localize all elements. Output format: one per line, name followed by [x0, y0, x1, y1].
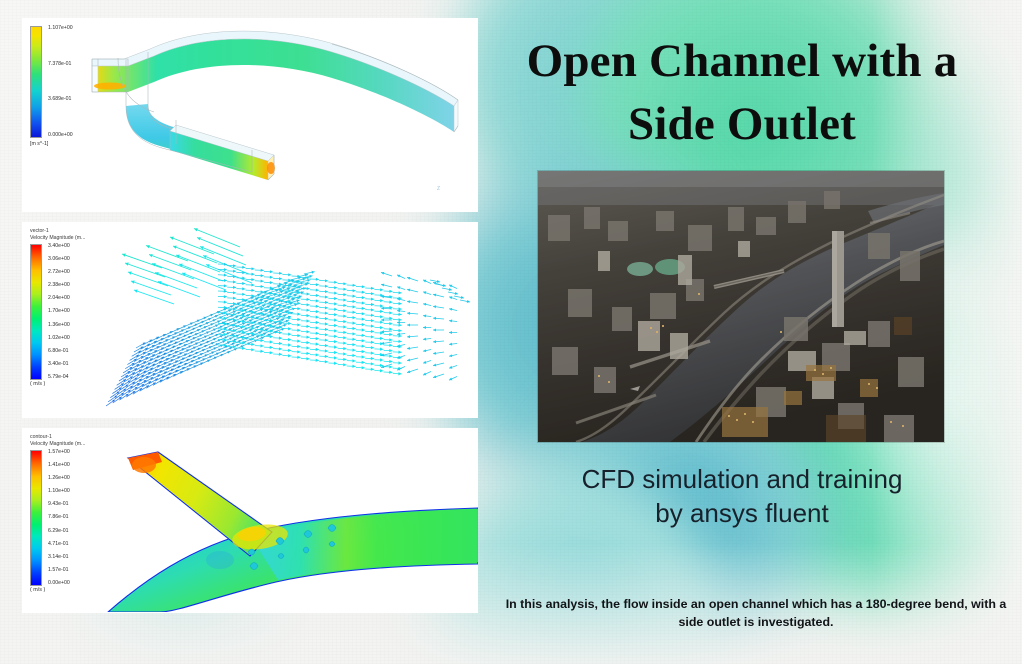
panel2-tick: 1.70e+00: [48, 309, 70, 314]
velocity-arrow: [365, 368, 374, 371]
velocity-arrow: [246, 289, 255, 292]
velocity-arrow: [282, 327, 291, 330]
velocity-arrow: [319, 301, 328, 304]
velocity-arrow: [393, 313, 402, 316]
velocity-arrow: [273, 272, 282, 275]
velocity-arrow: [449, 377, 457, 381]
velocity-arrow: [292, 329, 301, 332]
velocity-arrow: [449, 285, 457, 289]
velocity-arrow: [374, 304, 383, 307]
velocity-arrow: [397, 321, 405, 324]
panel2-colorbar-legend: vector-1 Velocity Magnitude (m... 3.40e+…: [30, 228, 85, 387]
velocity-arrow: [264, 288, 275, 292]
velocity-arrow: [246, 283, 255, 286]
velocity-arrow: [255, 269, 264, 272]
aerial-city-content: [538, 171, 944, 442]
velocity-arrow: [227, 297, 236, 300]
velocity-arrow: [310, 289, 319, 292]
velocity-arrow: [301, 341, 310, 344]
panel2-legend-unit: ( m/s ): [30, 381, 85, 387]
velocity-arrow: [449, 331, 457, 334]
velocity-arrow: [310, 315, 319, 318]
velocity-arrow: [347, 332, 356, 335]
velocity-arrow: [128, 272, 168, 287]
velocity-arrow: [301, 357, 310, 360]
velocity-arrow: [273, 336, 282, 339]
velocity-arrow: [356, 296, 365, 299]
velocity-arrow: [170, 237, 214, 254]
velocity-arrow: [449, 354, 457, 357]
panel1-tick: 1.107e+00: [48, 26, 73, 31]
subtitle: CFD simulation and training by ansys flu…: [492, 463, 992, 531]
panel1-tick: 7.378e-01: [48, 62, 73, 67]
velocity-arrow: [301, 319, 310, 322]
velocity-arrow: [347, 327, 356, 330]
velocity-arrow: [328, 356, 337, 359]
velocity-arrow: [393, 351, 402, 354]
velocity-arrow: [310, 353, 319, 356]
velocity-arrow: [407, 358, 418, 361]
velocity-arrow: [347, 295, 356, 298]
panel2-tick: 3.40e-01: [48, 362, 70, 367]
velocity-arrow: [347, 354, 356, 357]
panel1-colorbar: [30, 26, 42, 138]
velocity-arrow: [310, 359, 319, 362]
velocity-arrow: [393, 307, 402, 310]
velocity-arrow: [310, 299, 319, 302]
velocity-arrow: [365, 287, 374, 290]
velocity-arrow: [319, 322, 328, 325]
velocity-arrow: [356, 366, 365, 369]
velocity-arrow: [158, 281, 200, 297]
panel2-colorbar-ticks: 3.40e+00 3.06e+00 2.72e+00 2.38e+00 2.04…: [48, 244, 70, 380]
velocity-arrow: [356, 355, 365, 358]
velocity-arrow: [310, 283, 319, 286]
velocity-arrow: [423, 361, 431, 364]
velocity-arrow: [155, 272, 197, 288]
velocity-arrow: [338, 304, 347, 307]
velocity-arrow: [328, 345, 337, 348]
velocity-arrow: [282, 338, 291, 341]
velocity-arrow: [328, 313, 337, 316]
velocity-arrow: [218, 284, 227, 287]
velocity-arrow: [301, 352, 310, 355]
velocity-arrow: [365, 351, 374, 354]
velocity-arrow: [227, 275, 236, 278]
velocity-arrow: [310, 337, 319, 340]
velocity-arrow: [347, 343, 356, 346]
velocity-arrow: [365, 314, 374, 317]
velocity-arrow: [407, 277, 418, 281]
contour-low-velocity-pocket: [206, 551, 234, 569]
panel2-tick: 5.79e-04: [48, 375, 70, 380]
velocity-arrow: [273, 277, 282, 280]
velocity-contour-svg: [100, 434, 478, 612]
velocity-arrow: [227, 270, 236, 273]
velocity-arrow: [423, 291, 431, 294]
panel1-tick: 3.689e-01: [48, 97, 73, 102]
panel1-colorbar-legend: 1.107e+00 7.378e-01 3.689e-01 0.000e+00 …: [30, 24, 73, 147]
panel2-tick: 3.40e+00: [48, 244, 70, 249]
velocity-arrow: [433, 374, 444, 378]
panel2-tick: 2.04e+00: [48, 296, 70, 301]
velocity-arrow: [407, 300, 418, 303]
velocity-arrow: [319, 333, 328, 336]
velocity-arrow: [433, 317, 444, 320]
velocity-arrow: [227, 291, 236, 294]
velocity-vector-svg: [100, 228, 478, 412]
channel-inlet-face: [92, 66, 98, 92]
panel1-colorbar-ticks: 1.107e+00 7.378e-01 3.689e-01 0.000e+00: [48, 26, 73, 138]
velocity-arrow: [393, 302, 402, 305]
velocity-arrow: [365, 341, 374, 344]
velocity-arrow: [236, 287, 245, 290]
velocity-arrow: [365, 292, 374, 295]
velocity-arrow: [347, 316, 356, 319]
panel3-colorbar-ticks: 1.57e+00 1.41e+00 1.26e+00 1.10e+00 9.43…: [48, 450, 70, 586]
velocity-arrow: [273, 347, 282, 350]
velocity-arrow: [347, 300, 356, 303]
velocity-arrow: [264, 270, 273, 273]
panel3-tick: 7.86e-01: [48, 515, 70, 520]
velocity-arrow: [423, 349, 431, 352]
velocity-arrow: [338, 325, 347, 328]
panel1-plot-area: Z: [82, 28, 474, 198]
velocity-arrow: [407, 369, 418, 373]
velocity-arrow: [255, 350, 264, 353]
velocity-arrow: [449, 343, 457, 346]
panel2-tick: 2.72e+00: [48, 270, 70, 275]
velocity-arrow: [310, 332, 319, 335]
velocity-arrow: [365, 335, 374, 338]
velocity-arrow: [338, 336, 347, 339]
velocity-arrow: [356, 307, 365, 310]
contour-side-outlet-peak: [132, 457, 156, 473]
velocity-arrow: [301, 314, 310, 317]
velocity-arrow: [319, 339, 328, 342]
velocity-arrow: [291, 277, 302, 280]
velocity-arrow: [227, 286, 236, 289]
velocity-arrow: [374, 348, 383, 351]
panel2-tick: 1.02e+00: [48, 336, 70, 341]
velocity-arrow: [338, 298, 347, 301]
velocity-arrow: [374, 337, 383, 340]
velocity-arrow: [310, 294, 319, 297]
velocity-arrow: [356, 291, 365, 294]
velocity-arrow: [397, 286, 405, 289]
velocity-arrow: [356, 345, 365, 348]
velocity-arrow: [423, 372, 431, 376]
velocity-arrow: [347, 311, 356, 314]
velocity-arrow: [393, 329, 402, 332]
caption-line-1: In this analysis, the flow inside an ope…: [506, 597, 968, 611]
velocity-arrow: [365, 362, 374, 365]
velocity-arrow: [310, 348, 319, 351]
velocity-arrow: [423, 314, 431, 317]
panel3-tick: 9.43e-01: [48, 502, 70, 507]
velocity-arrow: [319, 344, 328, 347]
velocity-arrow: [374, 326, 383, 329]
velocity-arrow: [319, 279, 328, 282]
velocity-arrow: [310, 278, 319, 281]
velocity-arrow: [301, 309, 310, 312]
velocity-arrow: [365, 319, 374, 322]
velocity-arrow: [384, 360, 393, 363]
velocity-arrow: [393, 291, 402, 294]
velocity-arrow: [433, 329, 444, 332]
panel3-tick: 1.10e+00: [48, 489, 70, 494]
panel3-tick: 0.00e+00: [48, 581, 70, 586]
velocity-arrow: [384, 327, 393, 330]
velocity-arrow: [338, 347, 347, 350]
velocity-arrow: [319, 312, 328, 315]
panel2-plot-area: [100, 228, 478, 412]
panel3-legend-title-2: Velocity Magnitude (m...: [30, 441, 85, 448]
velocity-arrow: [236, 293, 245, 296]
panel3-tick: 1.57e-01: [48, 568, 70, 573]
velocity-arrow: [319, 290, 328, 293]
velocity-arrow: [433, 294, 444, 297]
velocity-arrow: [454, 296, 464, 299]
velocity-arrow: [381, 272, 392, 276]
velocity-arrow: [218, 295, 227, 298]
velocity-arrow: [393, 318, 402, 321]
velocity-arrow: [125, 263, 165, 278]
velocity-arrow: [264, 351, 273, 354]
velocity-arrow: [197, 237, 243, 256]
velocity-arrow: [338, 363, 347, 366]
velocity-arrow: [246, 348, 255, 351]
title-line-1: Open Channel with a: [492, 30, 992, 93]
photo-grade: [538, 171, 944, 442]
cfd-panel-3d-geometry: 1.107e+00 7.378e-01 3.689e-01 0.000e+00 …: [22, 18, 478, 212]
velocity-arrow: [310, 321, 319, 324]
panel3-tick: 1.26e+00: [48, 476, 70, 481]
velocity-arrow: [397, 275, 405, 279]
velocity-arrow: [449, 308, 457, 311]
panel3-legend-unit: ( m/s ): [30, 587, 85, 593]
velocity-arrow: [328, 308, 337, 311]
velocity-arrow: [356, 301, 365, 304]
velocity-arrow: [384, 349, 393, 352]
velocity-arrow: [338, 315, 347, 318]
velocity-arrow: [255, 285, 264, 288]
velocity-arrow: [356, 350, 365, 353]
velocity-arrow: [328, 351, 337, 354]
velocity-arrow: [423, 303, 431, 306]
velocity-arrow: [356, 361, 365, 364]
panel2-tick: 2.38e+00: [48, 283, 70, 288]
velocity-arrow: [236, 266, 245, 269]
velocity-arrow: [397, 309, 405, 312]
subtitle-line-2: by ansys fluent: [492, 497, 992, 531]
velocity-arrow: [319, 328, 328, 331]
velocity-arrow: [407, 289, 418, 292]
velocity-arrow: [264, 346, 273, 349]
velocity-arrow: [273, 342, 282, 345]
velocity-arrow: [397, 356, 405, 359]
velocity-arrow: [356, 328, 365, 331]
velocity-arrow: [301, 325, 310, 328]
velocity-arrow: [194, 228, 240, 247]
title-line-2: Side Outlet: [492, 93, 992, 156]
velocity-arrow: [433, 363, 444, 366]
velocity-arrow: [338, 320, 347, 323]
velocity-arrow: [374, 288, 383, 291]
velocity-arrow: [310, 326, 319, 329]
velocity-arrow: [338, 282, 347, 285]
velocity-arrow: [292, 339, 301, 342]
panel1-legend-unit: [m s^-1]: [30, 141, 73, 147]
velocity-arrow: [255, 339, 264, 342]
velocity-arrow: [347, 289, 356, 292]
velocity-arrow: [319, 360, 328, 363]
velocity-arrow: [356, 312, 365, 315]
velocity-arrow: [152, 263, 194, 279]
velocity-arrow: [347, 338, 356, 341]
velocity-arrow: [328, 302, 337, 305]
velocity-arrow: [292, 312, 301, 315]
velocity-arrow: [292, 356, 301, 359]
velocity-arrow: [384, 290, 393, 293]
velocity-arrow: [328, 292, 337, 295]
velocity-arrow: [393, 361, 402, 364]
velocity-arrow: [282, 349, 291, 352]
velocity-arrow: [384, 344, 393, 347]
velocity-arrow: [319, 295, 328, 298]
velocity-arrow: [338, 358, 347, 361]
velocity-arrow: [149, 254, 191, 270]
velocity-arrow: [433, 352, 444, 355]
velocity-arrow: [134, 290, 174, 305]
velocity-arrow: [146, 245, 188, 261]
velocity-arrow: [131, 281, 171, 296]
inlet-hotspot: [94, 83, 126, 90]
velocity-arrow: [255, 344, 264, 347]
velocity-arrow: [384, 311, 393, 314]
panel1-axis-marker: Z: [437, 186, 440, 192]
velocity-arrow: [338, 293, 347, 296]
velocity-arrow: [384, 317, 393, 320]
velocity-arrow: [273, 353, 282, 356]
panel3-tick: 6.29e-01: [48, 529, 70, 534]
velocity-arrow: [347, 305, 356, 308]
velocity-arrow: [292, 323, 301, 326]
velocity-arrow: [356, 318, 365, 321]
velocity-arrow: [423, 280, 431, 284]
velocity-arrow: [393, 372, 402, 375]
velocity-arrow: [460, 300, 470, 303]
velocity-arrow: [255, 280, 264, 283]
velocity-arrow: [423, 338, 431, 341]
panel2-tick: 3.06e+00: [48, 257, 70, 262]
velocity-arrow: [374, 321, 383, 324]
velocity-arrow: [319, 285, 328, 288]
velocity-arrow: [356, 334, 365, 337]
velocity-arrow: [328, 297, 337, 300]
velocity-arrow: [365, 357, 374, 360]
panel2-colorbar: [30, 244, 42, 380]
velocity-arrow: [292, 318, 301, 321]
velocity-arrow: [347, 359, 356, 362]
velocity-arrow: [407, 324, 418, 327]
velocity-arrow: [282, 273, 291, 276]
velocity-arrow: [338, 352, 347, 355]
velocity-arrow: [218, 274, 227, 277]
velocity-arrow: [328, 340, 337, 343]
velocity-arrow: [292, 345, 301, 348]
velocity-arrow: [328, 286, 337, 289]
velocity-arrow: [236, 282, 245, 285]
panel3-tick: 1.57e+00: [48, 450, 70, 455]
velocity-arrow: [384, 338, 393, 341]
panel3-tick: 4.71e-01: [48, 542, 70, 547]
velocity-arrow: [423, 326, 431, 329]
velocity-arrow: [338, 309, 347, 312]
velocity-arrow: [328, 281, 337, 284]
panel3-tick: 1.41e+00: [48, 463, 70, 468]
velocity-arrow: [365, 346, 374, 349]
velocity-arrow: [264, 340, 273, 343]
velocity-arrow: [374, 358, 383, 361]
velocity-arrow: [365, 324, 374, 327]
velocity-arrow: [328, 362, 337, 365]
poster-canvas: 1.107e+00 7.378e-01 3.689e-01 0.000e+00 …: [0, 0, 1022, 664]
velocity-arrow: [218, 301, 227, 304]
velocity-arrow: [365, 330, 374, 333]
velocity-arrow: [433, 305, 444, 308]
velocity-arrow: [200, 246, 246, 265]
panel2-tick: 1.36e+00: [48, 323, 70, 328]
velocity-arrow: [328, 318, 337, 321]
velocity-arrow: [310, 310, 319, 313]
aerial-city-svg: [538, 171, 944, 442]
velocity-arrow: [374, 364, 383, 367]
velocity-arrow: [381, 284, 392, 287]
velocity-arrow: [122, 254, 162, 269]
velocity-arrow: [292, 334, 301, 337]
page-title: Open Channel with a Side Outlet: [492, 30, 992, 155]
subtitle-line-1: CFD simulation and training: [492, 463, 992, 497]
velocity-arrow: [347, 348, 356, 351]
velocity-arrow: [301, 298, 310, 301]
velocity-arrow: [304, 271, 315, 274]
cfd-panel-vector-plot: vector-1 Velocity Magnitude (m... 3.40e+…: [22, 222, 478, 418]
velocity-arrow: [264, 281, 273, 284]
panel3-colorbar: [30, 450, 42, 586]
velocity-arrow: [255, 274, 264, 277]
velocity-arrow: [319, 349, 328, 352]
panel2-legend-title-2: Velocity Magnitude (m...: [30, 235, 85, 242]
velocity-arrow: [246, 267, 255, 270]
velocity-arrow: [292, 350, 301, 353]
panel1-tick: 0.000e+00: [48, 133, 73, 138]
velocity-arrow: [319, 317, 328, 320]
velocity-arrow: [384, 322, 393, 325]
velocity-arrow: [374, 310, 383, 313]
velocity-arrow: [347, 284, 356, 287]
velocity-arrow: [365, 298, 374, 301]
velocity-arrow: [301, 330, 310, 333]
panel2-legend-title-1: vector-1: [30, 228, 85, 235]
velocity-arrow: [310, 305, 319, 308]
velocity-arrow: [227, 280, 236, 283]
velocity-arrow: [319, 355, 328, 358]
velocity-arrow: [176, 255, 220, 272]
velocity-arrow: [393, 324, 402, 327]
velocity-arrow: [449, 366, 457, 369]
panel3-plot-area: [100, 434, 478, 612]
